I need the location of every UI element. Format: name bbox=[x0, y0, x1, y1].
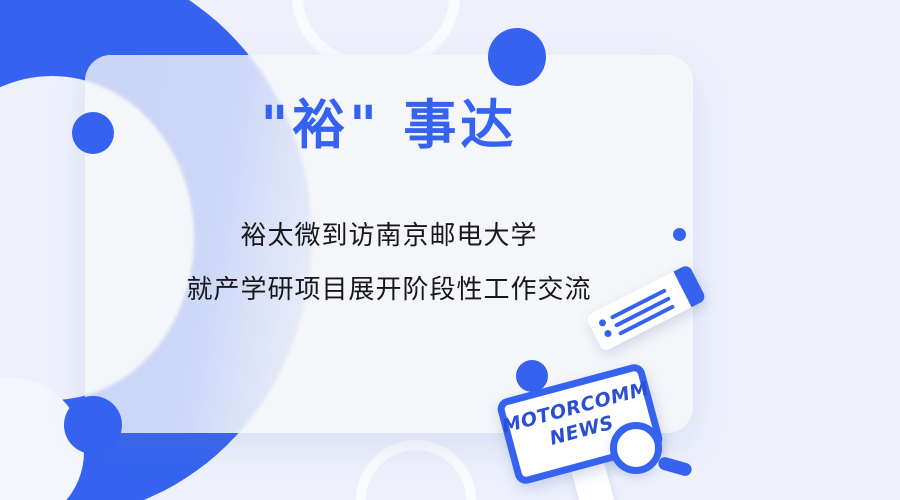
blue-dot-bottom-left bbox=[64, 396, 122, 454]
magnifier-handle bbox=[657, 456, 693, 478]
blue-dot-top-left bbox=[72, 112, 114, 154]
faint-ring-bottom-shape bbox=[356, 440, 476, 500]
blue-dot-top-center bbox=[488, 28, 546, 86]
news-sign-illustration: MOTORCOMM NEWS bbox=[500, 372, 700, 500]
blue-dot-small-right bbox=[673, 228, 686, 241]
news-banner: "裕" 事达 裕太微到访南京邮电大学 就产学研项目展开阶段性工作交流 MOTOR… bbox=[0, 0, 900, 500]
magnifier-icon bbox=[610, 422, 662, 474]
